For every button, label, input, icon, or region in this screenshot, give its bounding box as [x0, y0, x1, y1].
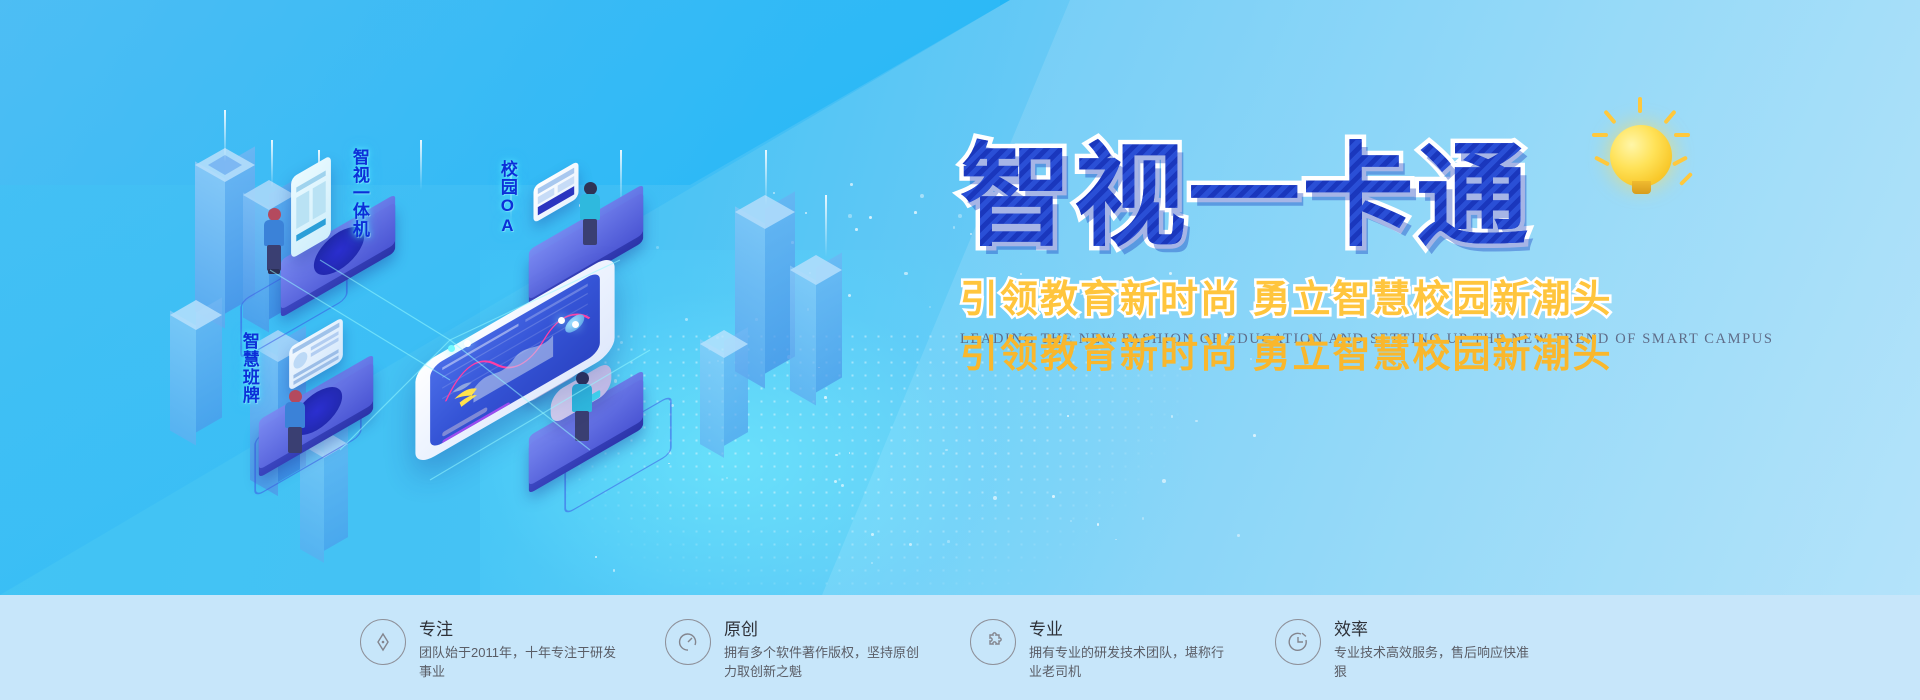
feature-desc: 拥有多个软件著作版权，坚持原创力取创新之魁 — [724, 644, 924, 682]
feature-desc: 团队始于2011年，十年专注于研发事业 — [419, 644, 619, 682]
feature-title: 专注 — [419, 615, 619, 640]
label-campus-oa: 校园OA — [498, 160, 516, 236]
feature-item-focus[interactable]: 专注 团队始于2011年，十年专注于研发事业 — [360, 613, 665, 682]
label-smart-classboard: 智慧班牌 — [240, 332, 258, 404]
page-subtitle: 引领教育新时尚 勇立智慧校园新潮头 — [960, 268, 1680, 323]
label-smart-terminal: 智视一体机 — [350, 148, 368, 238]
feature-desc: 拥有专业的研发技术团队，堪称行业老司机 — [1029, 644, 1229, 682]
glow-pin — [558, 317, 565, 324]
feature-item-professional[interactable]: 专业 拥有专业的研发技术团队，堪称行业老司机 — [970, 613, 1275, 682]
feature-item-original[interactable]: 原创 拥有多个软件著作版权，坚持原创力取创新之魁 — [665, 613, 970, 682]
promo-banner: 智视一体机 校园OA — [0, 0, 1920, 700]
headline-block: 智视一卡通 智视一卡通 引领教育新时尚 勇立智慧校园新潮头 引领教育新时尚 勇立… — [960, 140, 1680, 348]
gauge-icon — [665, 619, 711, 665]
feature-desc: 专业技术高效服务，售后响应快准狠 — [1334, 644, 1534, 682]
antenna — [825, 195, 827, 257]
glow-pin — [572, 321, 579, 328]
feature-title: 原创 — [724, 615, 924, 640]
antenna — [420, 140, 422, 190]
glow-pin — [448, 345, 455, 352]
feature-bar: 专注 团队始于2011年，十年专注于研发事业 原创 拥有多个软件著作版权，坚持原… — [0, 595, 1920, 700]
antenna — [224, 110, 226, 162]
feature-item-efficiency[interactable]: 效率 专业技术高效服务，售后响应快准狠 — [1275, 613, 1580, 682]
antenna — [765, 150, 767, 205]
page-subtitle-fill: 引领教育新时尚 勇立智慧校园新潮头 — [960, 323, 1613, 378]
puzzle-icon — [970, 619, 1016, 665]
antenna — [271, 140, 273, 188]
feature-title: 专业 — [1029, 615, 1229, 640]
glow-pin — [464, 340, 471, 347]
compass-icon — [360, 619, 406, 665]
clock-icon — [1275, 619, 1321, 665]
tablet-screen — [430, 270, 600, 450]
central-tablet-dashboard — [400, 285, 630, 435]
feature-title: 效率 — [1334, 615, 1534, 640]
page-title-fill: 智视一卡通 — [960, 140, 1530, 254]
